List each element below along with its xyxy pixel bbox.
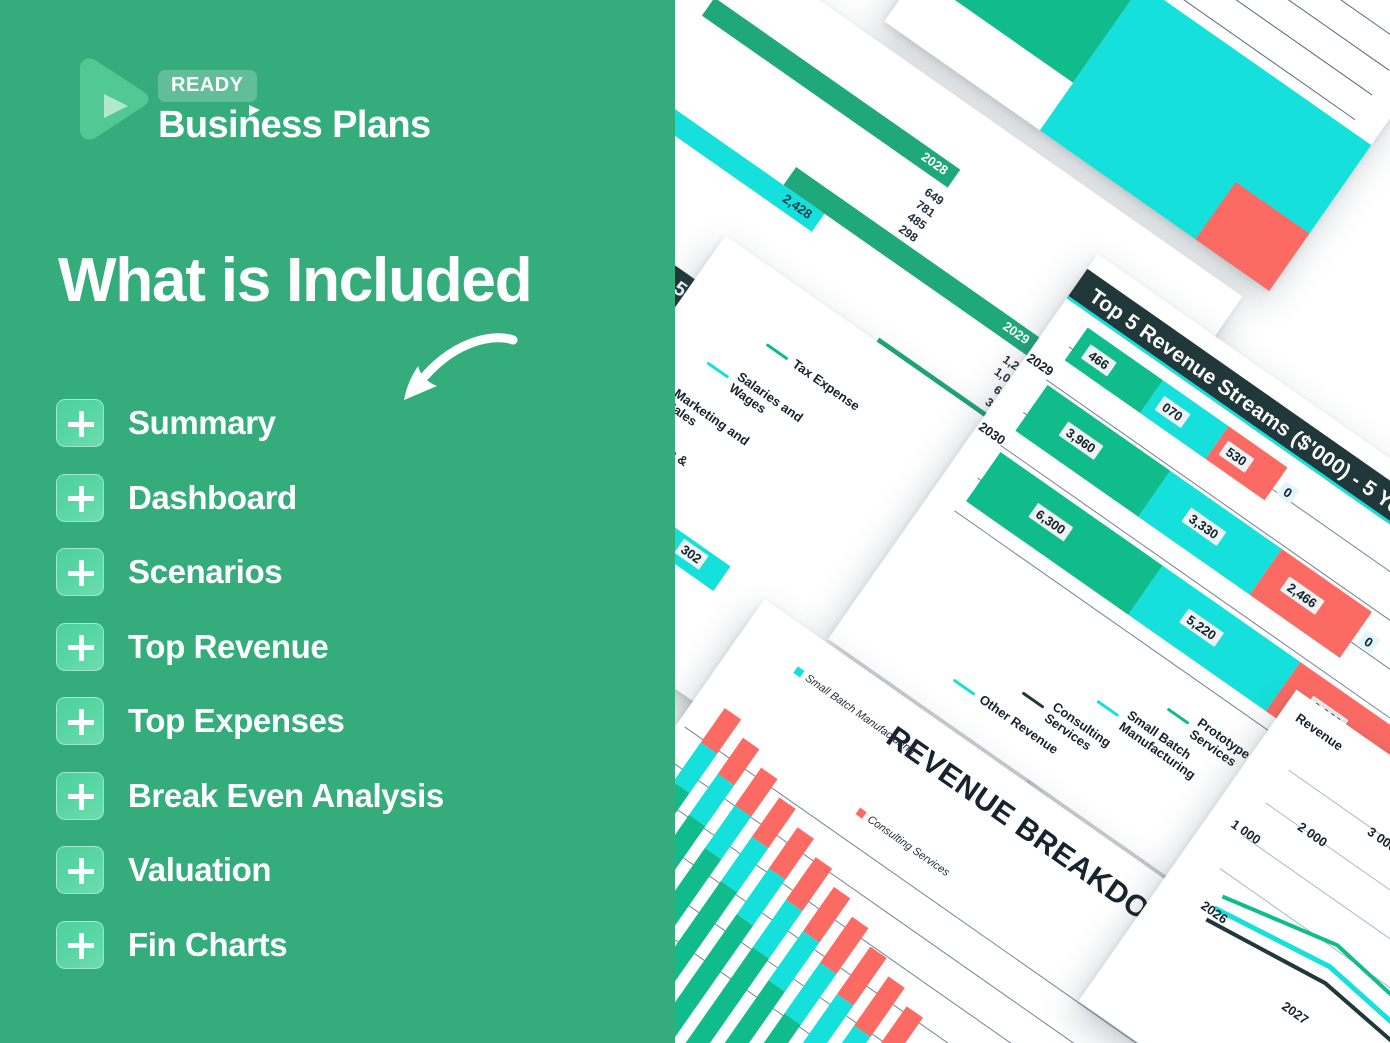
plus-icon bbox=[56, 474, 104, 522]
legend-item: Consulting Services bbox=[854, 806, 951, 879]
feature-item-summary[interactable]: Summary bbox=[56, 386, 656, 461]
feature-item-dashboard[interactable]: Dashboard bbox=[56, 461, 656, 536]
feature-item-fin-charts[interactable]: Fin Charts bbox=[56, 908, 656, 983]
page-title: What is Included bbox=[58, 248, 618, 313]
legend-marker-icon bbox=[1097, 699, 1120, 716]
legend-marker-icon bbox=[766, 343, 789, 360]
legend-marker-icon bbox=[856, 808, 867, 819]
feature-label: Summary bbox=[128, 404, 276, 442]
play-triangle-icon bbox=[70, 56, 152, 142]
plus-icon bbox=[56, 399, 104, 447]
plus-icon bbox=[56, 623, 104, 671]
feature-item-top-expenses[interactable]: Top Expenses bbox=[56, 684, 656, 759]
legend-item: Consulting Services bbox=[1015, 681, 1114, 762]
plus-icon bbox=[56, 846, 104, 894]
brand-name: Business Plans bbox=[158, 104, 431, 147]
left-green-panel: READY Business Plans What is Included Su… bbox=[0, 0, 675, 1043]
feature-label: Scenarios bbox=[128, 553, 282, 591]
feature-item-valuation[interactable]: Valuation bbox=[56, 833, 656, 908]
small-play-dot-icon bbox=[248, 104, 262, 118]
chart-axis-label: 2029 bbox=[1024, 350, 1056, 379]
legend-marker-icon bbox=[1022, 691, 1045, 708]
brand-logo[interactable]: READY Business Plans bbox=[70, 54, 490, 146]
bar-value-label: 0 bbox=[1276, 481, 1300, 505]
feature-label: Fin Charts bbox=[128, 926, 287, 964]
feature-item-top-revenue[interactable]: Top Revenue bbox=[56, 610, 656, 685]
legend-marker-icon bbox=[1167, 707, 1190, 724]
feature-label: Valuation bbox=[128, 851, 271, 889]
feature-item-scenarios[interactable]: Scenarios bbox=[56, 535, 656, 610]
ready-badge: READY bbox=[158, 70, 257, 102]
legend-marker-icon bbox=[707, 361, 730, 378]
chart-axis-label: 2030 bbox=[976, 419, 1008, 448]
feature-item-break-even-analysis[interactable]: Break Even Analysis bbox=[56, 759, 656, 834]
feature-label: Top Revenue bbox=[128, 628, 328, 666]
feature-list: Summary Dashboard Scenarios Top Revenue … bbox=[56, 386, 656, 982]
plus-icon bbox=[56, 697, 104, 745]
plus-icon bbox=[56, 548, 104, 596]
plus-icon bbox=[56, 921, 104, 969]
feature-label: Top Expenses bbox=[128, 702, 344, 740]
legend-marker-icon bbox=[953, 678, 976, 695]
plus-icon bbox=[56, 772, 104, 820]
legend-marker-icon bbox=[793, 666, 804, 677]
poster-canvas: Name Table of Contents 128.9 2028 649 78… bbox=[0, 0, 1390, 1043]
feature-label: Dashboard bbox=[128, 479, 297, 517]
feature-label: Break Even Analysis bbox=[128, 777, 444, 815]
bar-value-label: 0 bbox=[1357, 630, 1381, 654]
